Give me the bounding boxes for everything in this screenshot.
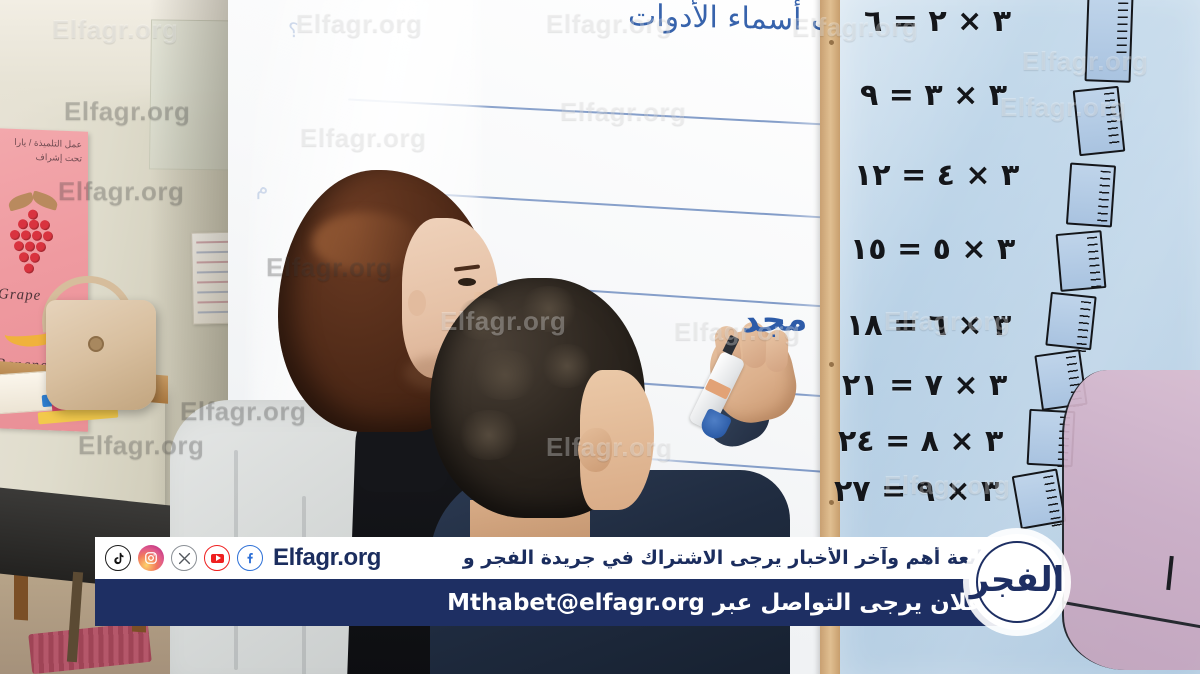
equation: ٣ × ٢ = ٦: [864, 4, 1011, 39]
tiktok-icon[interactable]: [105, 545, 131, 571]
ruler-illustration: [1012, 468, 1067, 529]
grape-illustration: [2, 200, 64, 280]
equation: ٣ × ٤ = ١٢: [854, 158, 1019, 193]
elfagr-logo[interactable]: الفجر: [969, 534, 1065, 630]
ruler-illustration: [1066, 162, 1116, 227]
youtube-icon[interactable]: [204, 545, 230, 571]
equation: ٣ × ٣ = ٩: [860, 78, 1007, 113]
fruit-label-grape: Grape: [0, 286, 41, 305]
fruit-poster-heading: عمل التلميذة / يارا: [14, 137, 82, 151]
youtube-play-glyph: [211, 554, 224, 563]
banner-site-name[interactable]: Elfagr.org: [270, 544, 381, 572]
banner-advertise-text[interactable]: للإعلان يرجى التواصل عبر Mthabet@elfagr.…: [447, 590, 1009, 616]
social-icons: [105, 545, 263, 571]
teacher-ear: [408, 290, 426, 316]
ruler-illustration: [1073, 86, 1126, 156]
boy-writing: مجد: [741, 299, 808, 341]
ruler-illustration: [1085, 0, 1134, 83]
equation: ٣ × ٥ = ١٥: [850, 232, 1015, 267]
boy-head: [430, 278, 645, 528]
fruit-poster-subheading: تحت إشراف: [36, 152, 83, 165]
logo-ring: الفجر: [976, 541, 1058, 623]
equation: ٣ × ٧ = ٢١: [842, 368, 1007, 403]
facebook-icon[interactable]: [237, 545, 263, 571]
banner-subscribe-text: لمتابعة أهم وآخر الأخبار يرجى الاشتراك ف…: [388, 547, 1015, 569]
handbag-clasp: [88, 336, 104, 352]
banner-top-row: Elfagr.org لمتابعة أهم وآخر الأخبار يرجى…: [95, 537, 1025, 579]
instagram-icon[interactable]: [138, 545, 164, 571]
ruler-illustration: [1045, 292, 1096, 351]
boy-ear: [578, 428, 612, 472]
banner-bottom-row: للإعلان يرجى التواصل عبر Mthabet@elfagr.…: [95, 579, 1025, 626]
promo-banner: Elfagr.org لمتابعة أهم وآخر الأخبار يرجى…: [95, 537, 1105, 626]
screenshot-root: عمل التلميذة / يارا تحت إشراف Grape Bana…: [0, 0, 1200, 674]
equation: ٣ × ٨ = ٢٤: [838, 424, 1003, 459]
ruler-illustration: [1056, 230, 1107, 292]
x-icon[interactable]: [171, 545, 197, 571]
equation: ٣ × ٩ = ٢٧: [834, 474, 999, 509]
handbag: [46, 300, 156, 410]
equation: ٣ × ٦ = ١٨: [846, 308, 1011, 343]
logo-text: الفجر: [970, 563, 1065, 597]
